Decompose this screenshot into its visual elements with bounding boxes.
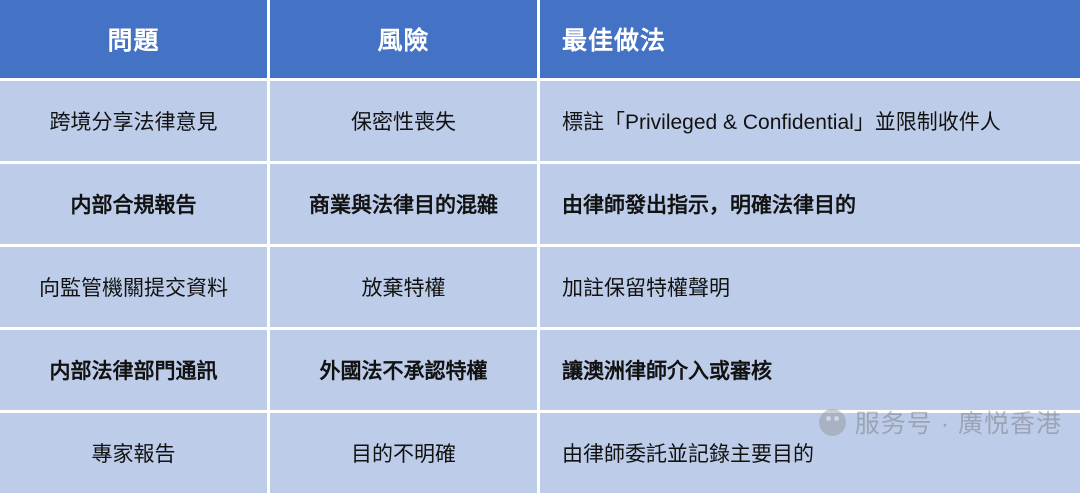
cell-best-practice: 由律師委託並記錄主要目的 xyxy=(540,413,1080,493)
cell-best-practice: 由律師發出指示，明確法律目的 xyxy=(540,164,1080,247)
cell-issue: 專家報告 xyxy=(0,413,270,493)
privilege-table-container: 問題 風險 最佳做法 跨境分享法律意見 保密性喪失 標註「Privileged … xyxy=(0,0,1080,466)
table-row: 向監管機關提交資料 放棄特權 加註保留特權聲明 xyxy=(0,247,1080,330)
cell-best-practice: 標註「Privileged & Confidential」並限制收件人 xyxy=(540,81,1080,164)
cell-issue: 跨境分享法律意見 xyxy=(0,81,270,164)
table-row: 内部合規報告 商業與法律目的混雜 由律師發出指示，明確法律目的 xyxy=(0,164,1080,247)
cell-risk: 放棄特權 xyxy=(270,247,540,330)
cell-risk: 目的不明確 xyxy=(270,413,540,493)
cell-best-practice: 加註保留特權聲明 xyxy=(540,247,1080,330)
cell-risk: 保密性喪失 xyxy=(270,81,540,164)
table-row: 專家報告 目的不明確 由律師委託並記錄主要目的 xyxy=(0,413,1080,493)
table-row: 内部法律部門通訊 外國法不承認特權 讓澳洲律師介入或審核 xyxy=(0,330,1080,413)
table-row: 跨境分享法律意見 保密性喪失 標註「Privileged & Confident… xyxy=(0,81,1080,164)
cell-risk: 外國法不承認特權 xyxy=(270,330,540,413)
cell-issue: 内部合規報告 xyxy=(0,164,270,247)
table-body: 跨境分享法律意見 保密性喪失 標註「Privileged & Confident… xyxy=(0,81,1080,493)
column-header-risk: 風險 xyxy=(270,0,540,81)
cell-issue: 内部法律部門通訊 xyxy=(0,330,270,413)
privilege-best-practice-table: 問題 風險 最佳做法 跨境分享法律意見 保密性喪失 標註「Privileged … xyxy=(0,0,1080,493)
column-header-best-practice: 最佳做法 xyxy=(540,0,1080,81)
column-header-issue: 問題 xyxy=(0,0,270,81)
cell-risk: 商業與法律目的混雜 xyxy=(270,164,540,247)
cell-best-practice: 讓澳洲律師介入或審核 xyxy=(540,330,1080,413)
table-header: 問題 風險 最佳做法 xyxy=(0,0,1080,81)
table-header-row: 問題 風險 最佳做法 xyxy=(0,0,1080,81)
cell-issue: 向監管機關提交資料 xyxy=(0,247,270,330)
